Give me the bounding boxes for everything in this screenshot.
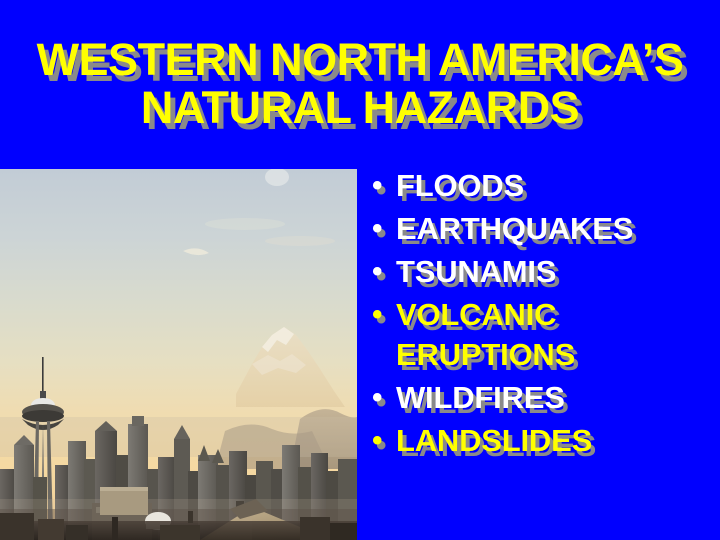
bullet-label-landslides: LANDSLIDES [396, 421, 712, 461]
list-item: • VOLCANIC ERUPTIONS [372, 295, 712, 375]
presentation-slide: WESTERN NORTH AMERICA’S NATURAL HAZARDS [0, 0, 720, 540]
bullet-icon: • [372, 378, 396, 418]
bullet-label-wildfires: WILDFIRES [396, 378, 712, 418]
list-item: • WILDFIRES [372, 378, 712, 418]
bullet-label-tsunamis: TSUNAMIS [396, 252, 712, 292]
list-item: • EARTHQUAKES [372, 209, 712, 249]
title-line-2: NATURAL HAZARDS [0, 84, 720, 132]
bullet-icon: • [372, 252, 396, 292]
skyline-illustration [0, 169, 357, 540]
title-line-1: WESTERN NORTH AMERICA’S [0, 36, 720, 84]
bullet-icon: • [372, 421, 396, 461]
list-item: • LANDSLIDES [372, 421, 712, 461]
bullet-icon: • [372, 209, 396, 249]
bullet-icon: • [372, 166, 396, 206]
list-item: • FLOODS [372, 166, 712, 206]
bullet-icon: • [372, 295, 396, 335]
bullet-label-floods: FLOODS [396, 166, 712, 206]
bullet-label-earthquakes: EARTHQUAKES [396, 209, 712, 249]
list-item: • TSUNAMIS [372, 252, 712, 292]
slide-title: WESTERN NORTH AMERICA’S NATURAL HAZARDS [0, 36, 720, 131]
hazards-bullet-list: • FLOODS • EARTHQUAKES • TSUNAMIS • VOLC… [372, 166, 712, 464]
seattle-skyline-photo [0, 169, 357, 540]
bullet-label-volcanic-eruptions: VOLCANIC ERUPTIONS [396, 295, 712, 375]
